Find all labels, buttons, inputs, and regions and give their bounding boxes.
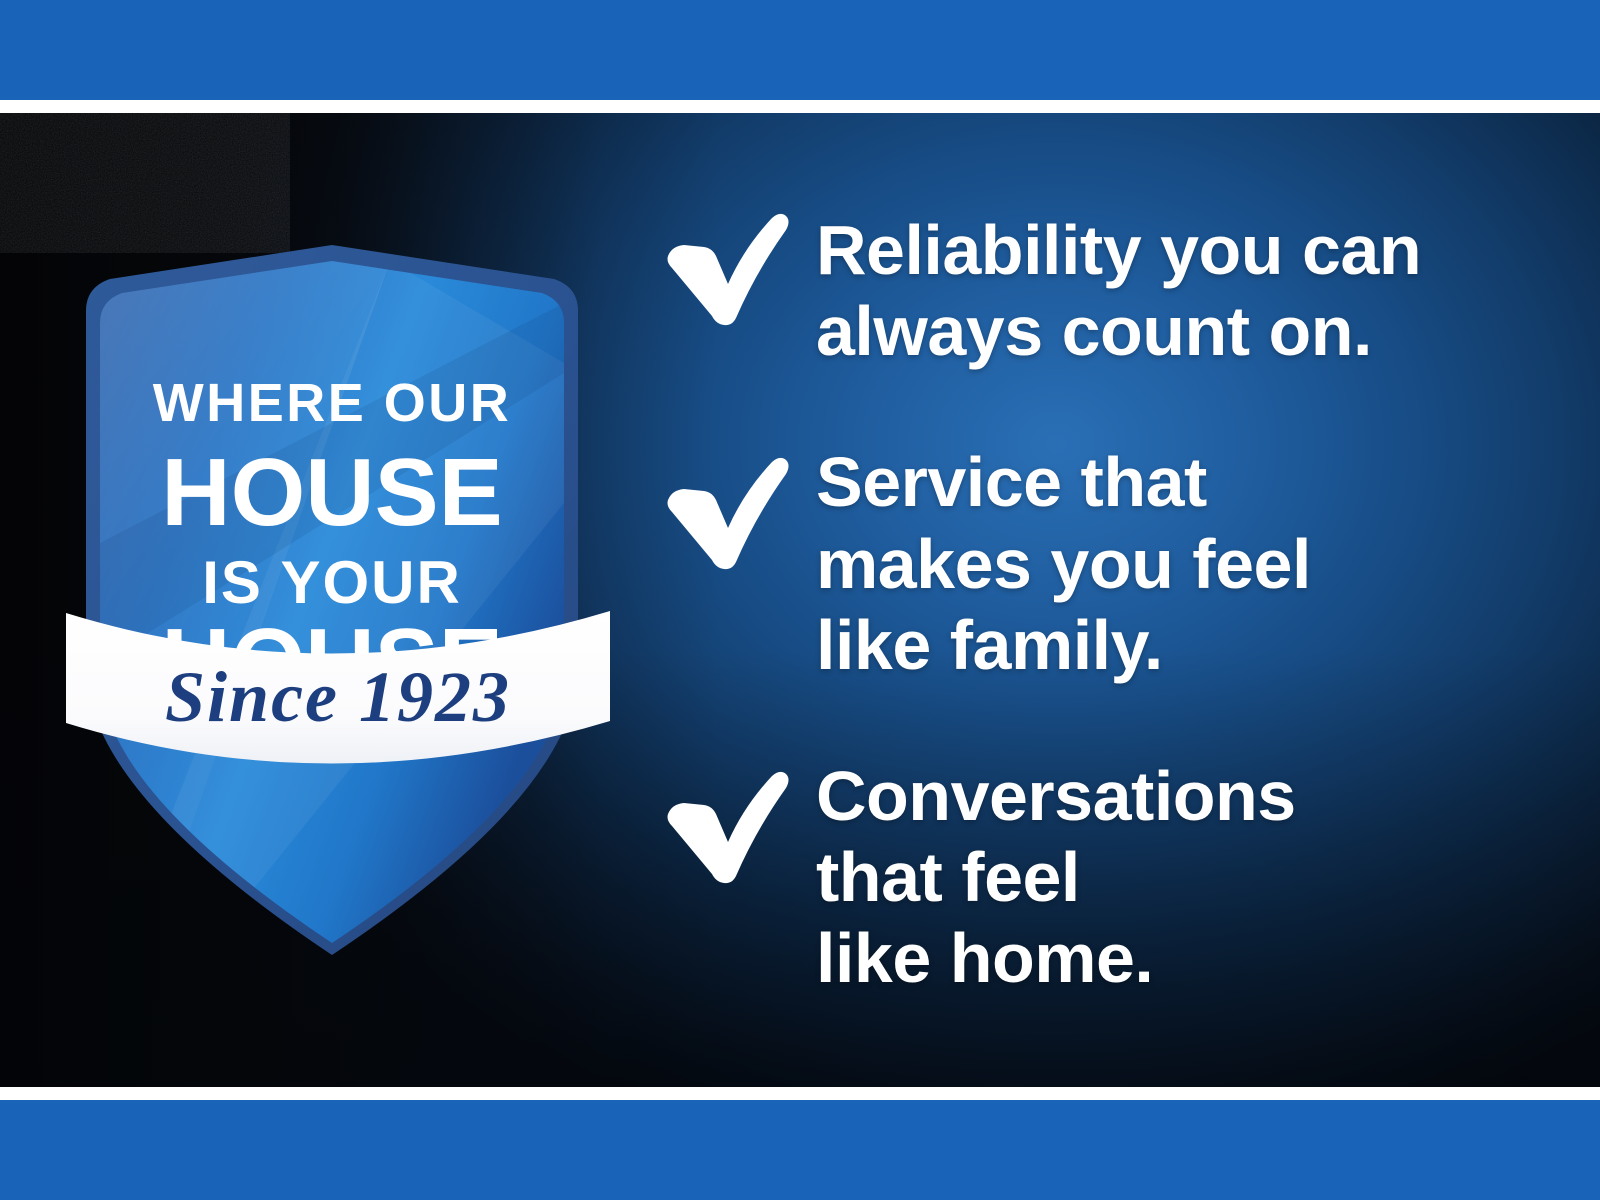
check-icon bbox=[660, 452, 792, 570]
bottom-divider-stripe bbox=[0, 1087, 1600, 1100]
check-icon bbox=[660, 766, 792, 884]
list-item-text: Reliability you can always count on. bbox=[816, 208, 1421, 372]
list-item: Service that makes you feel like family. bbox=[660, 440, 1540, 686]
list-item-text: Conversations that feel like home. bbox=[816, 754, 1296, 1000]
ribbon-label: Since 1923 bbox=[165, 657, 511, 737]
shield-line-2: HOUSE bbox=[161, 439, 502, 546]
check-icon bbox=[660, 208, 792, 326]
benefits-list: Reliability you can always count on. Ser… bbox=[660, 208, 1540, 1000]
list-item: Reliability you can always count on. bbox=[660, 208, 1540, 372]
bottom-brand-bar bbox=[0, 1100, 1600, 1200]
shield-line-3: IS YOUR bbox=[202, 549, 462, 616]
list-item: Conversations that feel like home. bbox=[660, 754, 1540, 1000]
shield-line-1: WHERE OUR bbox=[153, 373, 512, 433]
top-brand-bar bbox=[0, 0, 1600, 100]
shield-emblem: WHERE OUR HOUSE IS YOUR HOUSE Since 1923 bbox=[60, 243, 620, 963]
list-item-text: Service that makes you feel like family. bbox=[816, 440, 1311, 686]
top-divider-stripe bbox=[0, 100, 1600, 113]
main-stage: WHERE OUR HOUSE IS YOUR HOUSE Since 1923 bbox=[0, 113, 1600, 1087]
promo-graphic-canvas: WHERE OUR HOUSE IS YOUR HOUSE Since 1923 bbox=[0, 0, 1600, 1200]
